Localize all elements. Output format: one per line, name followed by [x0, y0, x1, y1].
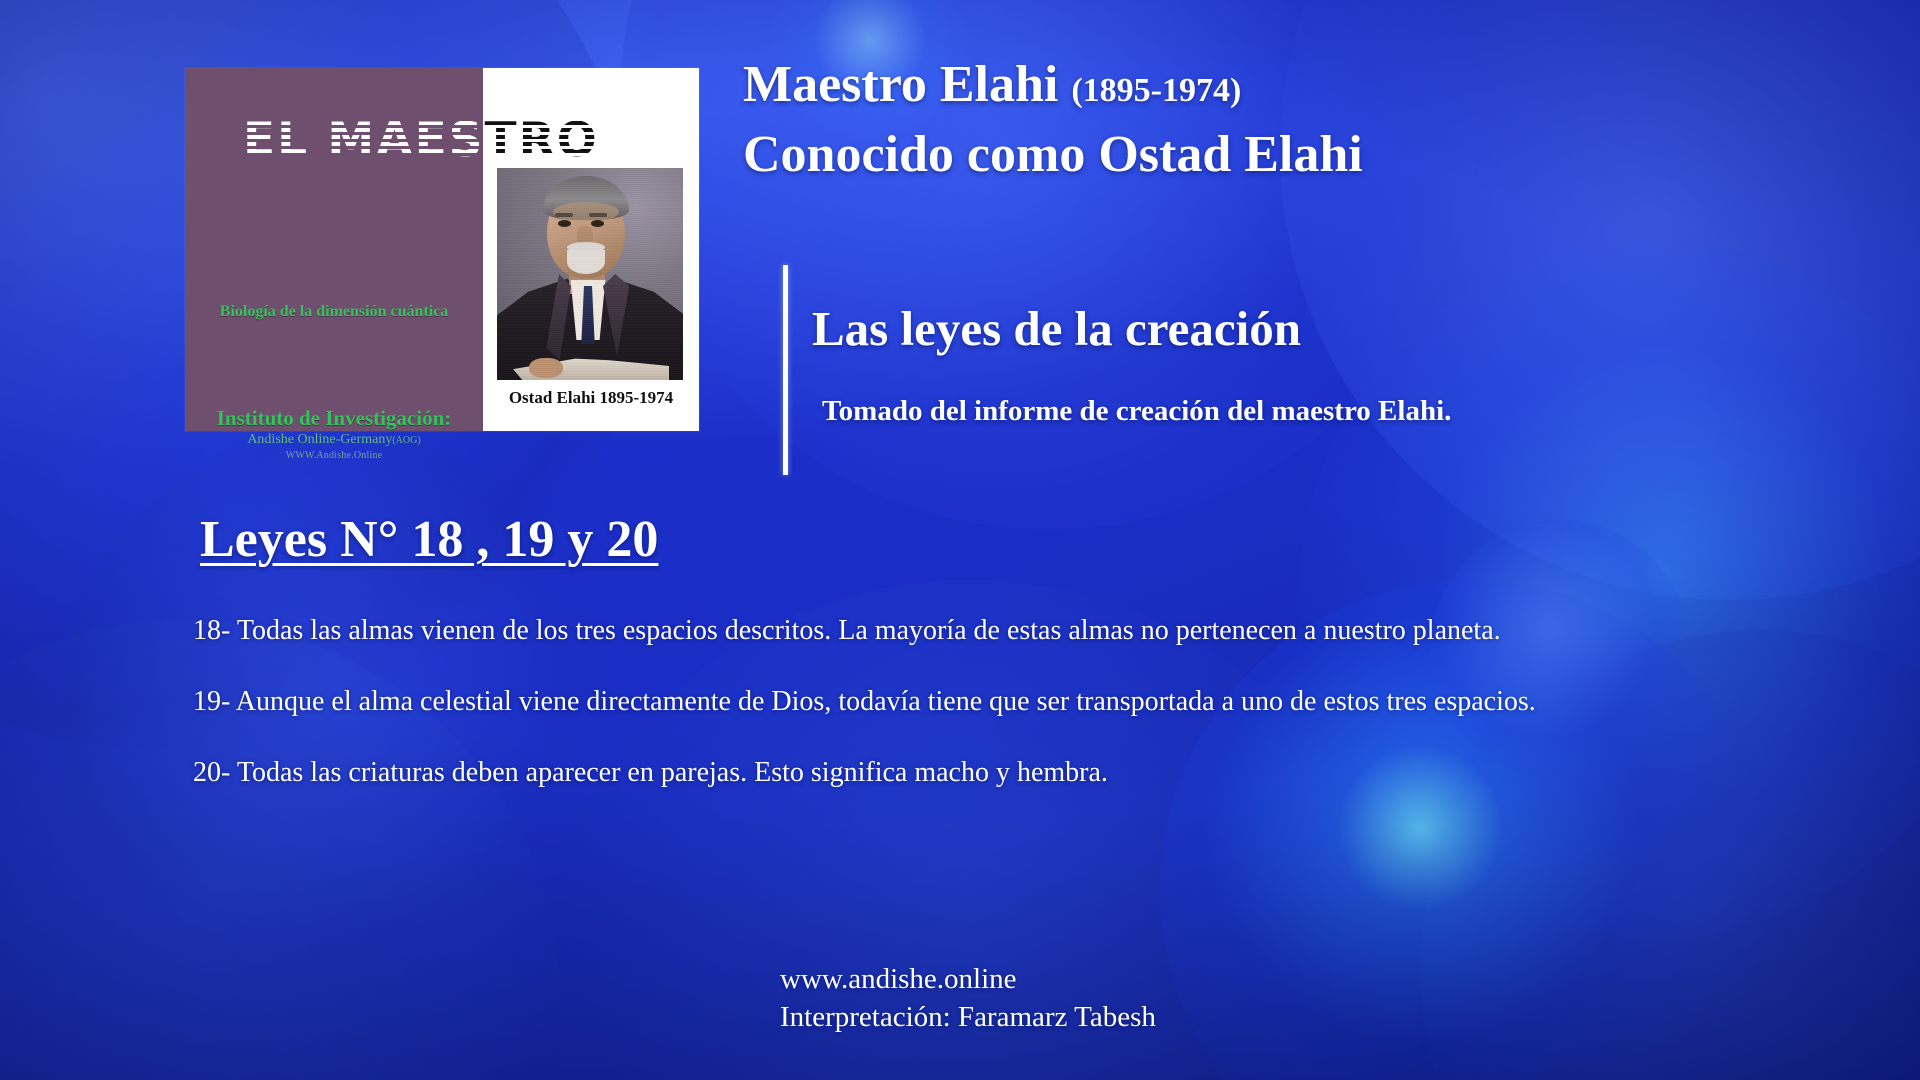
wordmark-dark-segment: EL MAESTRO: [243, 114, 645, 167]
book-cover-url: WWW.Andishe.Online: [185, 450, 483, 461]
portrait-caption: Ostad Elahi 1895-1974: [483, 388, 699, 408]
ostad-elahi-portrait-photo: [497, 168, 683, 380]
list-item: 19- Aunque el alma celestial viene direc…: [193, 683, 1793, 721]
book-cover-institute-label: Instituto de Investigación:: [185, 406, 483, 431]
slide-footer: www.andishe.online Interpretación: Faram…: [780, 960, 1156, 1037]
list-item: 20- Todas las criaturas deben aparecer e…: [193, 754, 1793, 792]
footer-credit: Interpretación: Faramarz Tabesh: [780, 998, 1156, 1036]
book-title-wordmark-dark-half: EL MAESTRO: [243, 114, 645, 167]
page-title-line-2: Conocido como Ostad Elahi: [743, 125, 1363, 184]
vertical-accent-bar: [783, 265, 788, 475]
maestro-lifespan: (1895-1974): [1071, 72, 1241, 109]
footer-website: www.andishe.online: [780, 960, 1156, 998]
photo-grain-overlay: [497, 168, 683, 380]
maestro-name: Maestro Elahi: [743, 56, 1071, 113]
book-cover-subtitle: Biología de la dimensión cuántica: [185, 303, 483, 321]
page-title-line-1: Maestro Elahi (1895-1974): [743, 55, 1241, 114]
organization-name: Andishe Online-Germany: [247, 432, 392, 447]
section-heading: Las leyes de la creación: [812, 300, 1301, 357]
wordmark-text-dark: EL MAESTRO: [243, 114, 645, 167]
presentation-slide: EL MAESTRO Biología de la dimensión cuán…: [0, 0, 1920, 1080]
organization-abbreviation: (AOG): [392, 435, 420, 446]
book-cover-image: EL MAESTRO Biología de la dimensión cuán…: [185, 68, 699, 431]
list-item: 18- Todas las almas vienen de los tres e…: [193, 612, 1793, 650]
laws-heading: Leyes N° 18 , 19 y 20: [200, 510, 658, 569]
section-caption: Tomado del informe de creación del maest…: [822, 395, 1451, 428]
book-cover-organization: Andishe Online-Germany(AOG): [185, 432, 483, 448]
laws-list: 18- Todas las almas vienen de los tres e…: [193, 612, 1793, 824]
